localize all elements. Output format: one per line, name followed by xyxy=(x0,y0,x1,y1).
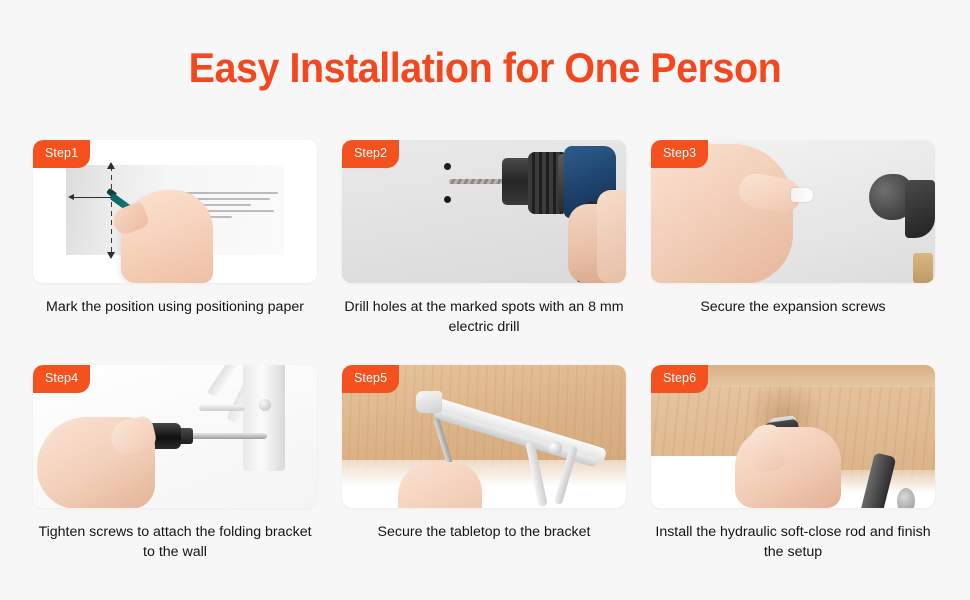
fingers xyxy=(748,423,786,473)
step-3-card[interactable]: Step3 xyxy=(651,140,935,283)
step-card-2: Step2 Drill holes at the marked spots xyxy=(342,140,626,337)
step-6-badge: Step6 xyxy=(651,365,708,393)
marked-spot-2 xyxy=(444,196,451,203)
hand xyxy=(398,462,482,508)
steps-grid: Step1 Mark xyxy=(33,140,937,563)
screwdriver-shaft xyxy=(181,433,267,439)
step-1-card[interactable]: Step1 xyxy=(33,140,317,283)
step-5-card[interactable]: Step5 xyxy=(342,365,626,508)
tabletop-edge xyxy=(342,460,626,508)
installation-guide-page: Easy Installation for One Person Step1 xyxy=(0,0,970,600)
hammer-handle xyxy=(913,253,933,283)
drill-bit xyxy=(449,179,509,184)
bracket-rod xyxy=(199,405,245,411)
bracket-end-cap xyxy=(416,391,442,413)
bracket-post xyxy=(243,365,285,471)
arrow-up-icon xyxy=(107,162,115,169)
hammer-claw xyxy=(905,180,935,238)
step-card-1: Step1 Mark xyxy=(33,140,317,337)
hand xyxy=(597,190,626,283)
step-2-card[interactable]: Step2 xyxy=(342,140,626,283)
step-3-badge: Step3 xyxy=(651,140,708,168)
page-title: Easy Installation for One Person xyxy=(29,0,941,89)
step-card-5: Step5 Secure the tabletop to the bracket xyxy=(342,365,626,562)
step-card-3: Step3 Secure the expansion screws xyxy=(651,140,935,337)
center-dashed-line xyxy=(111,166,112,254)
step-6-card[interactable]: Step6 xyxy=(651,365,935,508)
marked-spot-1 xyxy=(444,163,451,170)
step-card-4: Step4 Tighten screws to attach the foldi… xyxy=(33,365,317,562)
expansion-anchor xyxy=(791,188,813,202)
arrow-left-icon xyxy=(68,194,74,200)
step-5-badge: Step5 xyxy=(342,365,399,393)
step-5-caption: Secure the tabletop to the bracket xyxy=(342,522,626,542)
tool-head xyxy=(897,488,915,508)
step-2-caption: Drill holes at the marked spots with an … xyxy=(342,297,626,337)
step-1-badge: Step1 xyxy=(33,140,90,168)
step-card-6: Step6 Install the hydraulic soft-close r… xyxy=(651,365,935,562)
arrow-down-icon xyxy=(107,252,115,259)
step-4-card[interactable]: Step4 xyxy=(33,365,317,508)
step-6-caption: Install the hydraulic soft-close rod and… xyxy=(651,522,935,562)
step-1-caption: Mark the position using positioning pape… xyxy=(33,297,317,317)
step-3-caption: Secure the expansion screws xyxy=(651,297,935,317)
step-4-badge: Step4 xyxy=(33,365,90,393)
step-2-badge: Step2 xyxy=(342,140,399,168)
measure-line xyxy=(71,197,113,198)
step-4-caption: Tighten screws to attach the folding bra… xyxy=(33,522,317,562)
